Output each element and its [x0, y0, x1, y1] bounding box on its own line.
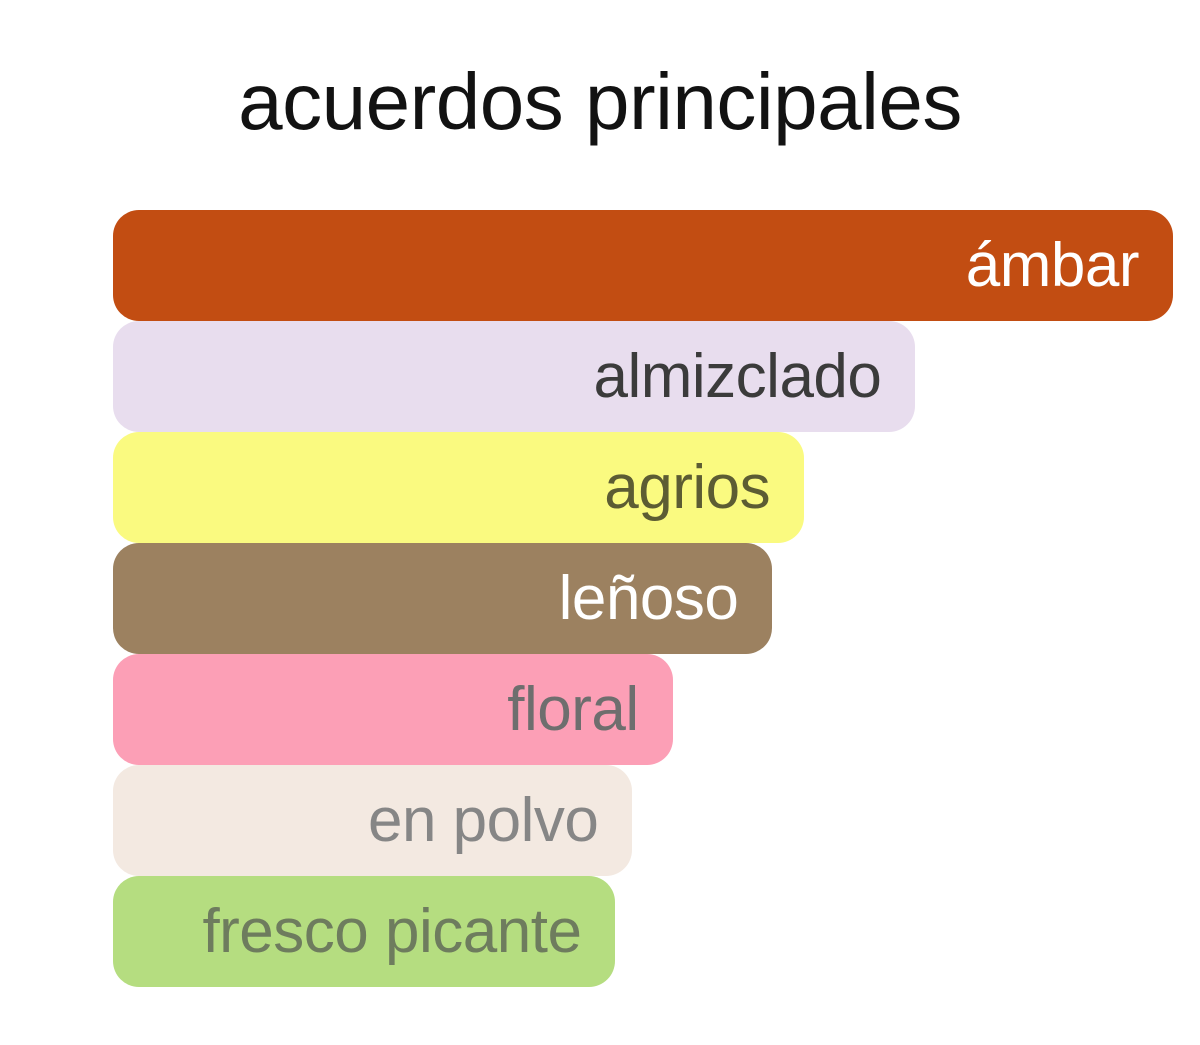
bar-row: floral: [113, 654, 1173, 765]
bar-row: fresco picante: [113, 876, 1173, 987]
bar-row: agrios: [113, 432, 1173, 543]
bar-list: ámbaralmizcladoagriosleñosofloralen polv…: [113, 210, 1173, 987]
bar-label: leñoso: [559, 568, 773, 630]
bar-label: ámbar: [966, 235, 1173, 297]
bar-leñoso[interactable]: leñoso: [113, 543, 772, 654]
bar-agrios[interactable]: agrios: [113, 432, 804, 543]
bar-ámbar[interactable]: ámbar: [113, 210, 1173, 321]
bar-row: almizclado: [113, 321, 1173, 432]
bar-almizclado[interactable]: almizclado: [113, 321, 915, 432]
accords-bar-chart: acuerdos principales ámbaralmizcladoagri…: [0, 0, 1200, 1045]
bar-label: en polvo: [368, 790, 632, 852]
bar-row: ámbar: [113, 210, 1173, 321]
bar-floral[interactable]: floral: [113, 654, 673, 765]
bar-row: en polvo: [113, 765, 1173, 876]
bar-fresco-picante[interactable]: fresco picante: [113, 876, 615, 987]
bar-label: floral: [507, 679, 672, 741]
chart-title: acuerdos principales: [0, 62, 1200, 142]
bar-en-polvo[interactable]: en polvo: [113, 765, 632, 876]
bar-row: leñoso: [113, 543, 1173, 654]
bar-label: fresco picante: [202, 901, 615, 963]
bar-label: agrios: [604, 457, 804, 519]
bar-label: almizclado: [594, 346, 916, 408]
